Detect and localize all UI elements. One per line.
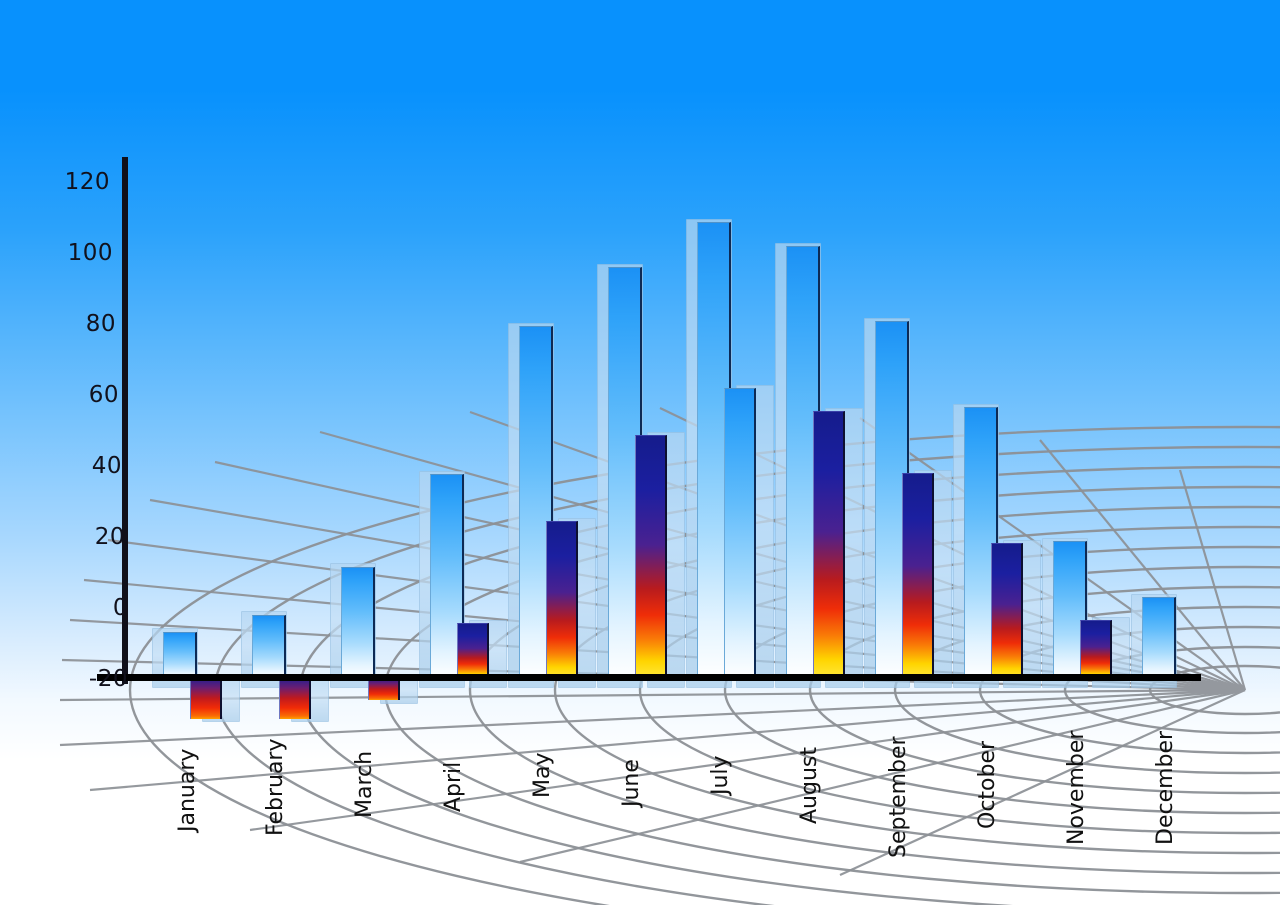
- bar-october-warm[interactable]: [991, 543, 1023, 678]
- bar-april-warm[interactable]: [457, 623, 489, 678]
- bar-june-warm[interactable]: [635, 435, 667, 678]
- xlabel-may: May: [530, 753, 555, 798]
- bar-december-blue[interactable]: [1142, 597, 1176, 678]
- bar-july-warm[interactable]: [724, 388, 756, 678]
- bar-august-warm[interactable]: [813, 411, 845, 678]
- bar-november-warm[interactable]: [1080, 620, 1112, 678]
- bar-march-warm[interactable]: [368, 678, 400, 700]
- xlabel-april: April: [441, 762, 466, 812]
- xlabel-august: August: [797, 747, 822, 824]
- xlabel-february: February: [263, 739, 288, 837]
- chart-canvas: 120 100 80 60 40 20 0 -20 January Februa…: [0, 0, 1280, 905]
- ytick-40: 40: [62, 453, 122, 479]
- xlabel-july: July: [708, 755, 733, 795]
- ytick-60: 60: [59, 382, 119, 408]
- bar-january-warm[interactable]: [190, 678, 222, 719]
- xlabel-march: March: [352, 751, 377, 818]
- ytick-0: 0: [68, 595, 128, 621]
- ytick-120: 120: [50, 169, 110, 195]
- bar-march-blue[interactable]: [341, 567, 375, 678]
- xlabel-november: November: [1064, 731, 1089, 845]
- x-axis-baseline: [97, 674, 1201, 681]
- bar-september-warm[interactable]: [902, 473, 934, 678]
- bar-january-blue[interactable]: [163, 632, 197, 678]
- ytick--20: -20: [48, 666, 128, 692]
- bar-may-warm[interactable]: [546, 521, 578, 678]
- xlabel-october: October: [975, 741, 1000, 829]
- ytick-80: 80: [56, 311, 116, 337]
- xlabel-june: June: [619, 759, 644, 807]
- xlabel-december: December: [1153, 731, 1178, 845]
- ytick-100: 100: [53, 240, 113, 266]
- xlabel-september: September: [886, 736, 911, 858]
- ytick-20: 20: [65, 524, 125, 550]
- bar-february-warm[interactable]: [279, 678, 311, 719]
- xlabel-january: January: [175, 749, 200, 832]
- bar-february-blue[interactable]: [252, 615, 286, 678]
